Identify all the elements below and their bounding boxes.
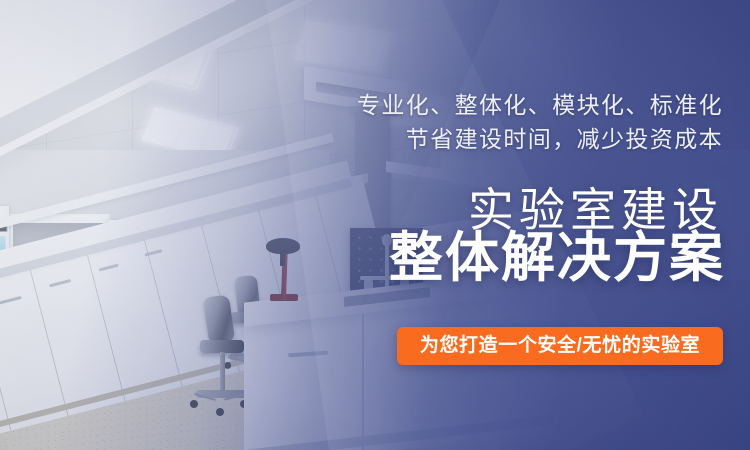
chair-wheel — [216, 408, 224, 416]
lab-solution-banner: 专业化、整体化、模块化、标准化 节省建设时间，减少投资成本 实验室建设 整体解决… — [0, 0, 750, 450]
cta-button[interactable]: 为您打造一个安全/无忧的实验室 — [397, 327, 723, 365]
subtitle-line-1: 专业化、整体化、模块化、标准化 — [357, 92, 723, 118]
chair-wheel — [190, 400, 198, 408]
banner-subtitle: 专业化、整体化、模块化、标准化 节省建设时间，减少投资成本 — [293, 88, 723, 156]
banner-title-bold: 整体解决方案 — [295, 228, 725, 288]
subtitle-line-2: 节省建设时间，减少投资成本 — [293, 122, 723, 156]
chair-wheel — [224, 362, 231, 369]
chair-post — [220, 352, 225, 392]
banner-content: 专业化、整体化、模块化、标准化 节省建设时间，减少投资成本 实验室建设 整体解决… — [293, 0, 723, 450]
